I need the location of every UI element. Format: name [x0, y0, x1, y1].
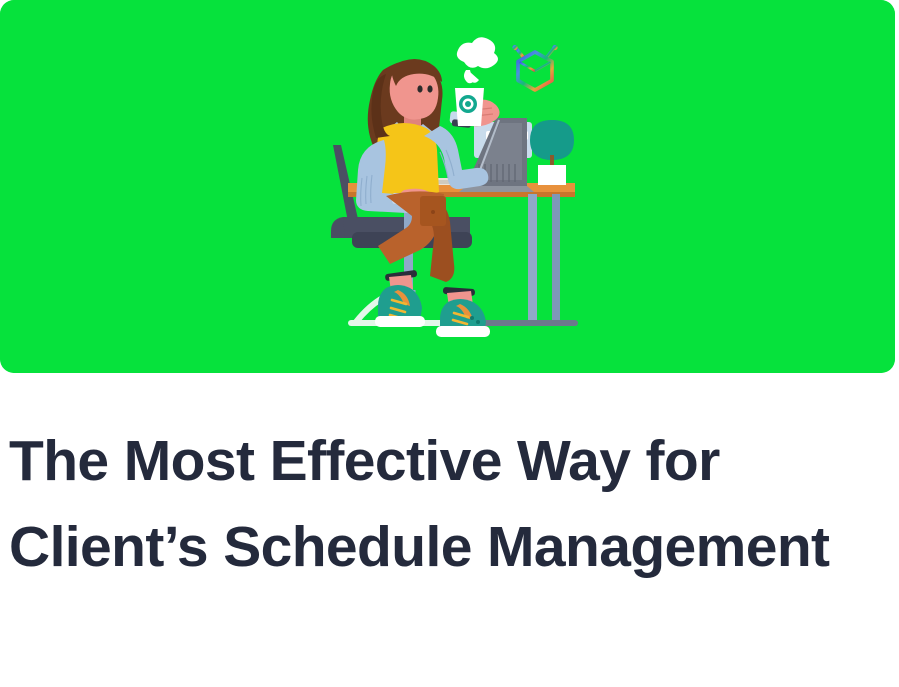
page-root: The Most Effective Way for Client’s Sche…	[0, 0, 899, 687]
desk-work-illustration	[0, 0, 895, 373]
hero-image-card[interactable]	[0, 0, 895, 373]
page-title: The Most Effective Way for Client’s Sche…	[9, 418, 869, 590]
